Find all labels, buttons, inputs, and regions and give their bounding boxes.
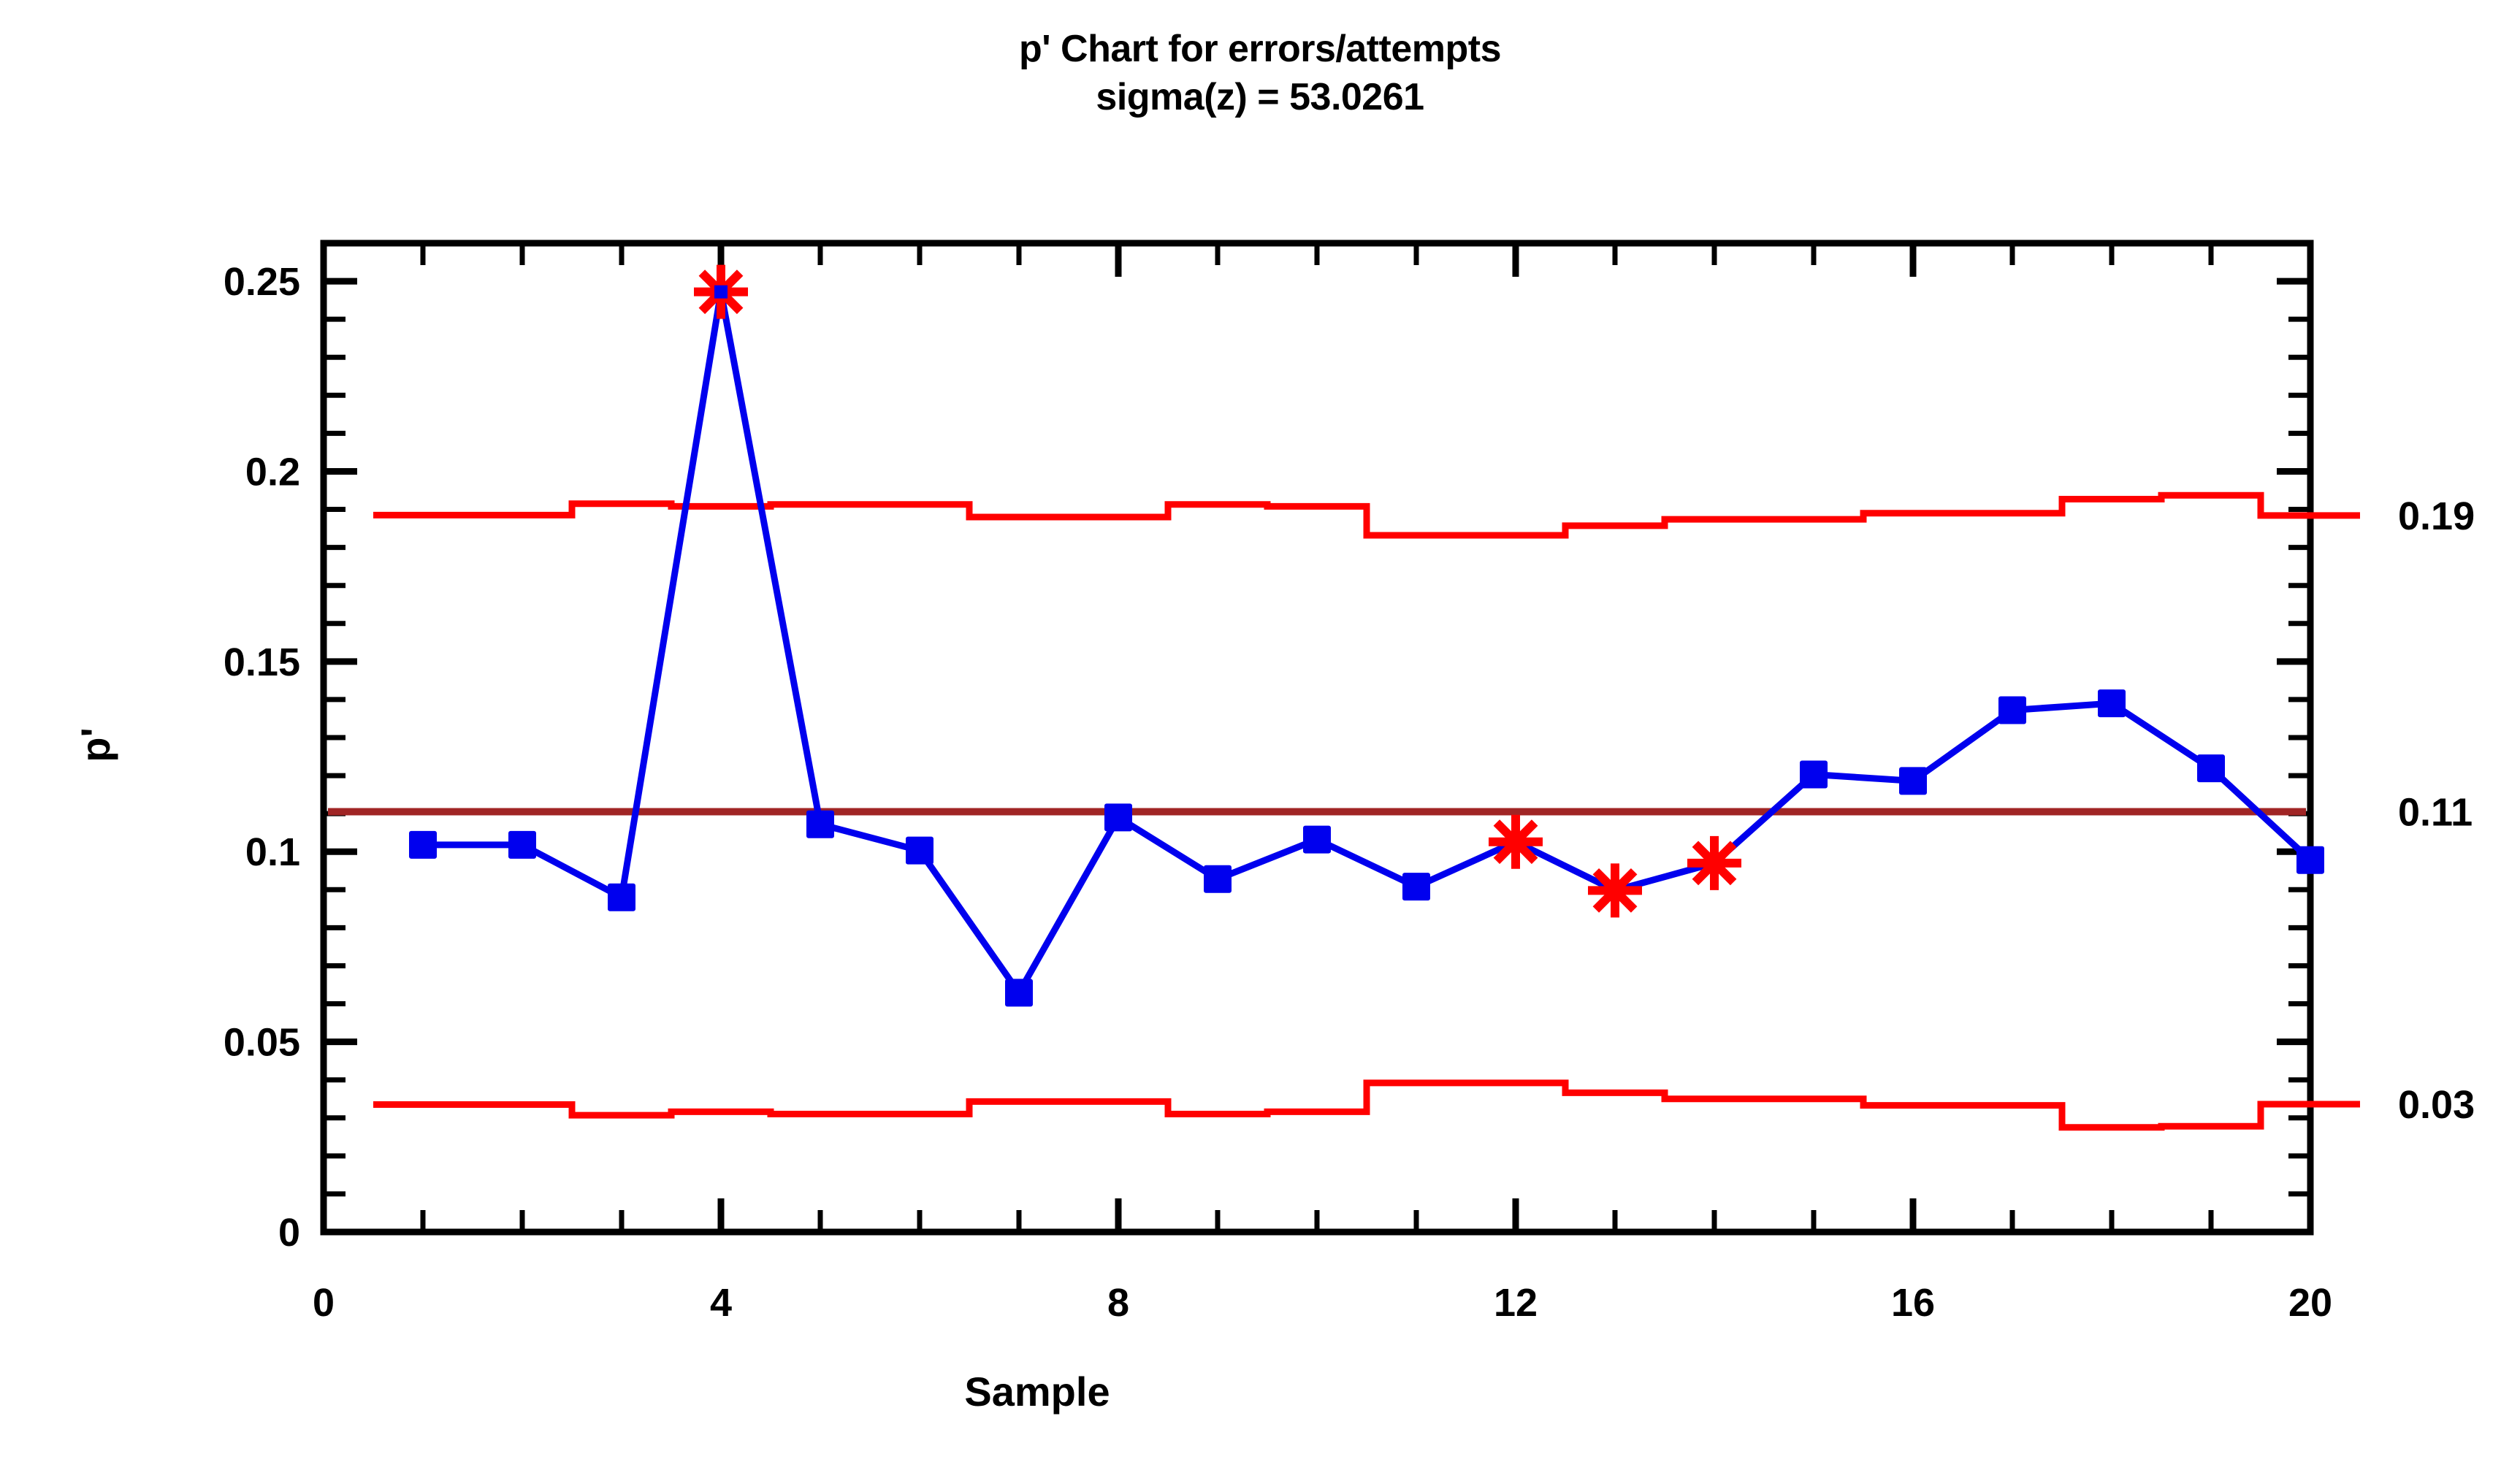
y-tick-label: 0.15 — [224, 640, 300, 684]
limit-value-labels: 0.190.110.03 — [2398, 494, 2475, 1127]
data-point-marker — [1204, 865, 1232, 893]
data-point-marker — [1998, 697, 2026, 724]
y-tick-label: 0 — [278, 1211, 300, 1255]
data-point-marker — [806, 811, 834, 838]
ucl-value-label: 0.19 — [2398, 494, 2475, 538]
lower-control-limit-line — [373, 1083, 2360, 1128]
data-series-line — [423, 292, 2310, 993]
data-point-marker — [2296, 846, 2324, 874]
cl-value-label: 0.11 — [2398, 791, 2473, 835]
violation-asterisk-icon — [1588, 863, 1642, 917]
data-point-marker — [1104, 803, 1132, 831]
data-point-marker — [608, 884, 635, 911]
data-point-marker — [1402, 873, 1430, 900]
upper-control-limit-line — [373, 495, 2360, 535]
y-axis-tick-labels: 00.050.10.150.20.25 — [224, 260, 300, 1255]
data-point-marker — [1800, 761, 1828, 789]
data-point-marker — [409, 831, 437, 859]
x-tick-label: 12 — [1494, 1281, 1538, 1325]
x-axis-tick-labels: 048121620 — [313, 1281, 2332, 1325]
plot-area: 00.050.10.150.20.25 048121620 0.190.110.… — [0, 0, 2520, 1481]
x-tick-label: 0 — [313, 1281, 335, 1325]
x-tick-label: 8 — [1107, 1281, 1129, 1325]
data-point-marker — [508, 831, 536, 859]
x-tick-label: 20 — [2288, 1281, 2332, 1325]
violation-asterisk-icon — [1489, 815, 1543, 869]
data-point-marker — [2098, 689, 2126, 717]
data-point-marker — [1303, 826, 1331, 854]
control-chart: p' Chart for errors/attempts sigma(z) = … — [0, 0, 2520, 1481]
y-tick-label: 0.25 — [224, 260, 300, 304]
x-axis-title: Sample — [964, 1369, 1110, 1415]
plot-frame — [324, 243, 2310, 1232]
data-point-markers — [409, 689, 2324, 1006]
y-tick-label: 0.1 — [245, 830, 300, 874]
violation-markers — [694, 265, 1741, 918]
data-point-marker — [1005, 979, 1033, 1006]
x-tick-label: 16 — [1891, 1281, 1935, 1325]
violation-asterisk-icon — [1687, 836, 1741, 890]
data-point-marker — [1899, 767, 1927, 795]
y-axis-title: p' — [72, 727, 118, 762]
data-point-marker — [906, 837, 933, 865]
axis-ticks — [324, 243, 2310, 1232]
x-tick-label: 4 — [710, 1281, 732, 1325]
lcl-value-label: 0.03 — [2398, 1083, 2475, 1127]
y-tick-label: 0.05 — [224, 1021, 300, 1065]
y-tick-label: 0.2 — [245, 450, 300, 494]
data-point-marker — [2197, 754, 2225, 782]
violation-asterisk-icon — [694, 265, 748, 319]
